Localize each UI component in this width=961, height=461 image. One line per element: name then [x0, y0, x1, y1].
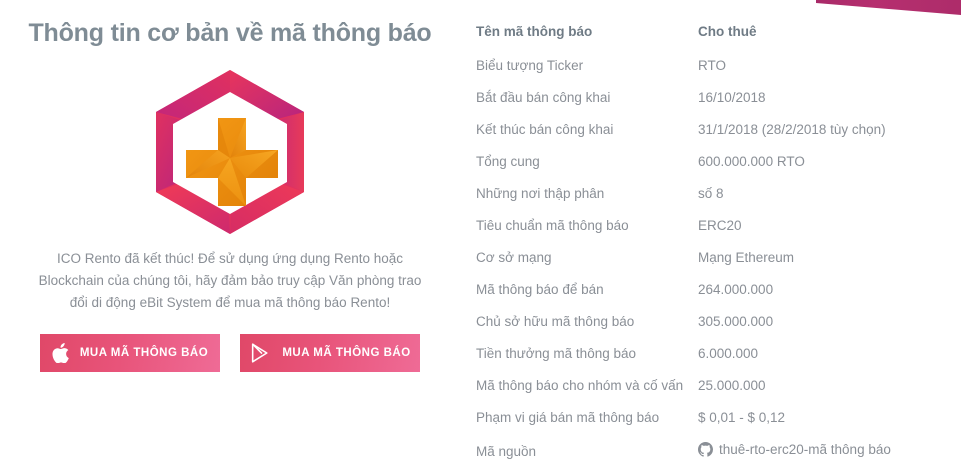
table-header-value: Cho thuê	[698, 0, 921, 50]
github-icon	[698, 440, 713, 461]
table-head: Tên mã thông báo Cho thuê	[476, 0, 921, 50]
row-label: Mã nguồn	[476, 434, 698, 461]
table-row: Mã thông báo để bán 264.000.000	[476, 274, 921, 306]
buy-token-apple-button[interactable]: MUA MÃ THÔNG BÁO	[40, 334, 220, 372]
table-row: Những nơi thập phân số 8	[476, 178, 921, 210]
row-label: Biểu tượng Ticker	[476, 50, 698, 82]
table-row: Cơ sở mạng Mạng Ethereum	[476, 242, 921, 274]
table-row: Tổng cung 600.000.000 RTO	[476, 146, 921, 178]
table-row: Biểu tượng Ticker RTO	[476, 50, 921, 82]
apple-icon	[52, 343, 69, 363]
table-row: Kết thúc bán công khai 31/1/2018 (28/2/2…	[476, 114, 921, 146]
table-header-row: Tên mã thông báo Cho thuê	[476, 0, 921, 50]
logo-container	[22, 62, 438, 242]
row-value: 16/10/2018	[698, 82, 921, 114]
table-row: Mã nguồn thuê-rto-erc20-mã thông báo	[476, 434, 921, 461]
row-value: ERC20	[698, 210, 921, 242]
page-root: Thông tin cơ bản về mã thông báo	[0, 0, 961, 461]
row-value: 305.000.000	[698, 306, 921, 338]
row-label: Phạm vi giá bán mã thông báo	[476, 402, 698, 434]
table-header-label: Tên mã thông báo	[476, 0, 698, 50]
buy-token-apple-label: MUA MÃ THÔNG BÁO	[80, 347, 208, 359]
google-play-icon	[249, 342, 271, 364]
row-label: Cơ sở mạng	[476, 242, 698, 274]
table-row: Tiền thưởng mã thông báo 6.000.000	[476, 338, 921, 370]
table-row: Chủ sở hữu mã thông báo 305.000.000	[476, 306, 921, 338]
row-label: Tiêu chuẩn mã thông báo	[476, 210, 698, 242]
row-label: Mã thông báo để bán	[476, 274, 698, 306]
table-row: Bắt đầu bán công khai 16/10/2018	[476, 82, 921, 114]
row-value: số 8	[698, 178, 921, 210]
row-value: 25.000.000	[698, 370, 921, 402]
row-value: 600.000.000 RTO	[698, 146, 921, 178]
token-info-table-container: Tên mã thông báo Cho thuê Biểu tượng Tic…	[476, 0, 921, 461]
table-row: Phạm vi giá bán mã thông báo $ 0,01 - $ …	[476, 402, 921, 434]
lead-paragraph: ICO Rento đã kết thúc! Để sử dụng ứng dụ…	[22, 248, 438, 314]
row-value: 6.000.000	[698, 338, 921, 370]
buy-token-google-play-button[interactable]: MUA MÃ THÔNG BÁO	[240, 334, 420, 372]
table-body: Biểu tượng Ticker RTO Bắt đầu bán công k…	[476, 50, 921, 461]
row-label: Kết thúc bán công khai	[476, 114, 698, 146]
table-row: Mã thông báo cho nhóm và cố vấn 25.000.0…	[476, 370, 921, 402]
row-label: Tiền thưởng mã thông báo	[476, 338, 698, 370]
intro-column: Thông tin cơ bản về mã thông báo	[0, 0, 460, 461]
row-label: Những nơi thập phân	[476, 178, 698, 210]
row-label: Bắt đầu bán công khai	[476, 82, 698, 114]
source-code-link[interactable]: thuê-rto-erc20-mã thông báo	[719, 440, 891, 459]
buy-token-google-play-label: MUA MÃ THÔNG BÁO	[282, 347, 410, 359]
row-value: 31/1/2018 (28/2/2018 tùy chọn)	[698, 114, 921, 146]
row-value: $ 0,01 - $ 0,12	[698, 402, 921, 434]
store-buttons-group: MUA MÃ THÔNG BÁO MUA MÃ THÔNG BÁO	[22, 334, 438, 372]
row-label: Mã thông báo cho nhóm và cố vấn	[476, 370, 698, 402]
row-label: Chủ sở hữu mã thông báo	[476, 306, 698, 338]
row-value-source: thuê-rto-erc20-mã thông báo	[698, 434, 921, 461]
row-value: RTO	[698, 50, 921, 82]
page-title: Thông tin cơ bản về mã thông báo	[22, 16, 438, 50]
token-info-table: Tên mã thông báo Cho thuê Biểu tượng Tic…	[476, 0, 921, 461]
row-value: Mạng Ethereum	[698, 242, 921, 274]
row-label: Tổng cung	[476, 146, 698, 178]
rento-hexagon-logo-icon	[146, 66, 314, 238]
row-value: 264.000.000	[698, 274, 921, 306]
table-row: Tiêu chuẩn mã thông báo ERC20	[476, 210, 921, 242]
